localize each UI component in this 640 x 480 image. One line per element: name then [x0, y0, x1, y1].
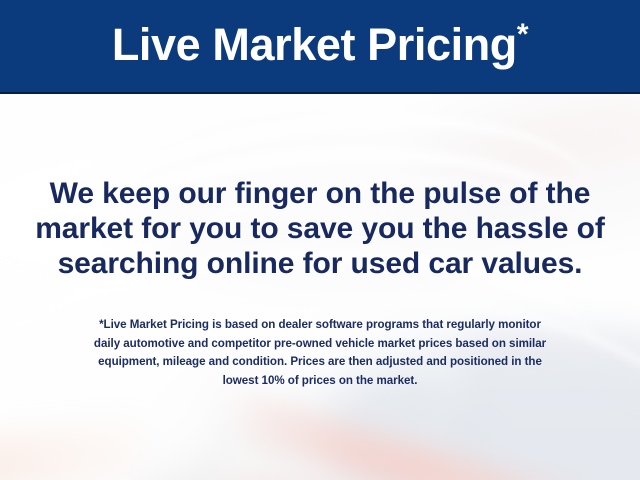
page-title-footnote-marker: * [517, 18, 528, 51]
disclaimer-line-2: daily automotive and competitor pre-owne… [0, 335, 640, 354]
live-market-pricing-banner: Live Market Pricing* We keep our finger … [0, 0, 640, 480]
disclaimer-line-4: lowest 10% of prices on the market. [0, 372, 640, 391]
headline: We keep our finger on the pulse of the m… [0, 176, 640, 281]
disclaimer-text: *Live Market Pricing is based on dealer … [0, 316, 640, 390]
headline-line-1: We keep our finger on the pulse of the [0, 176, 640, 211]
headline-line-2: market for you to save you the hassle of [0, 211, 640, 246]
headline-line-3: searching online for used car values. [0, 246, 640, 281]
disclaimer-line-3: equipment, mileage and condition. Prices… [0, 353, 640, 372]
disclaimer-line-1: *Live Market Pricing is based on dealer … [0, 316, 640, 335]
page-title: Live Market Pricing* [112, 22, 528, 70]
header-divider [0, 92, 640, 94]
header-bar: Live Market Pricing* [0, 0, 640, 92]
page-title-text: Live Market Pricing [112, 19, 517, 70]
